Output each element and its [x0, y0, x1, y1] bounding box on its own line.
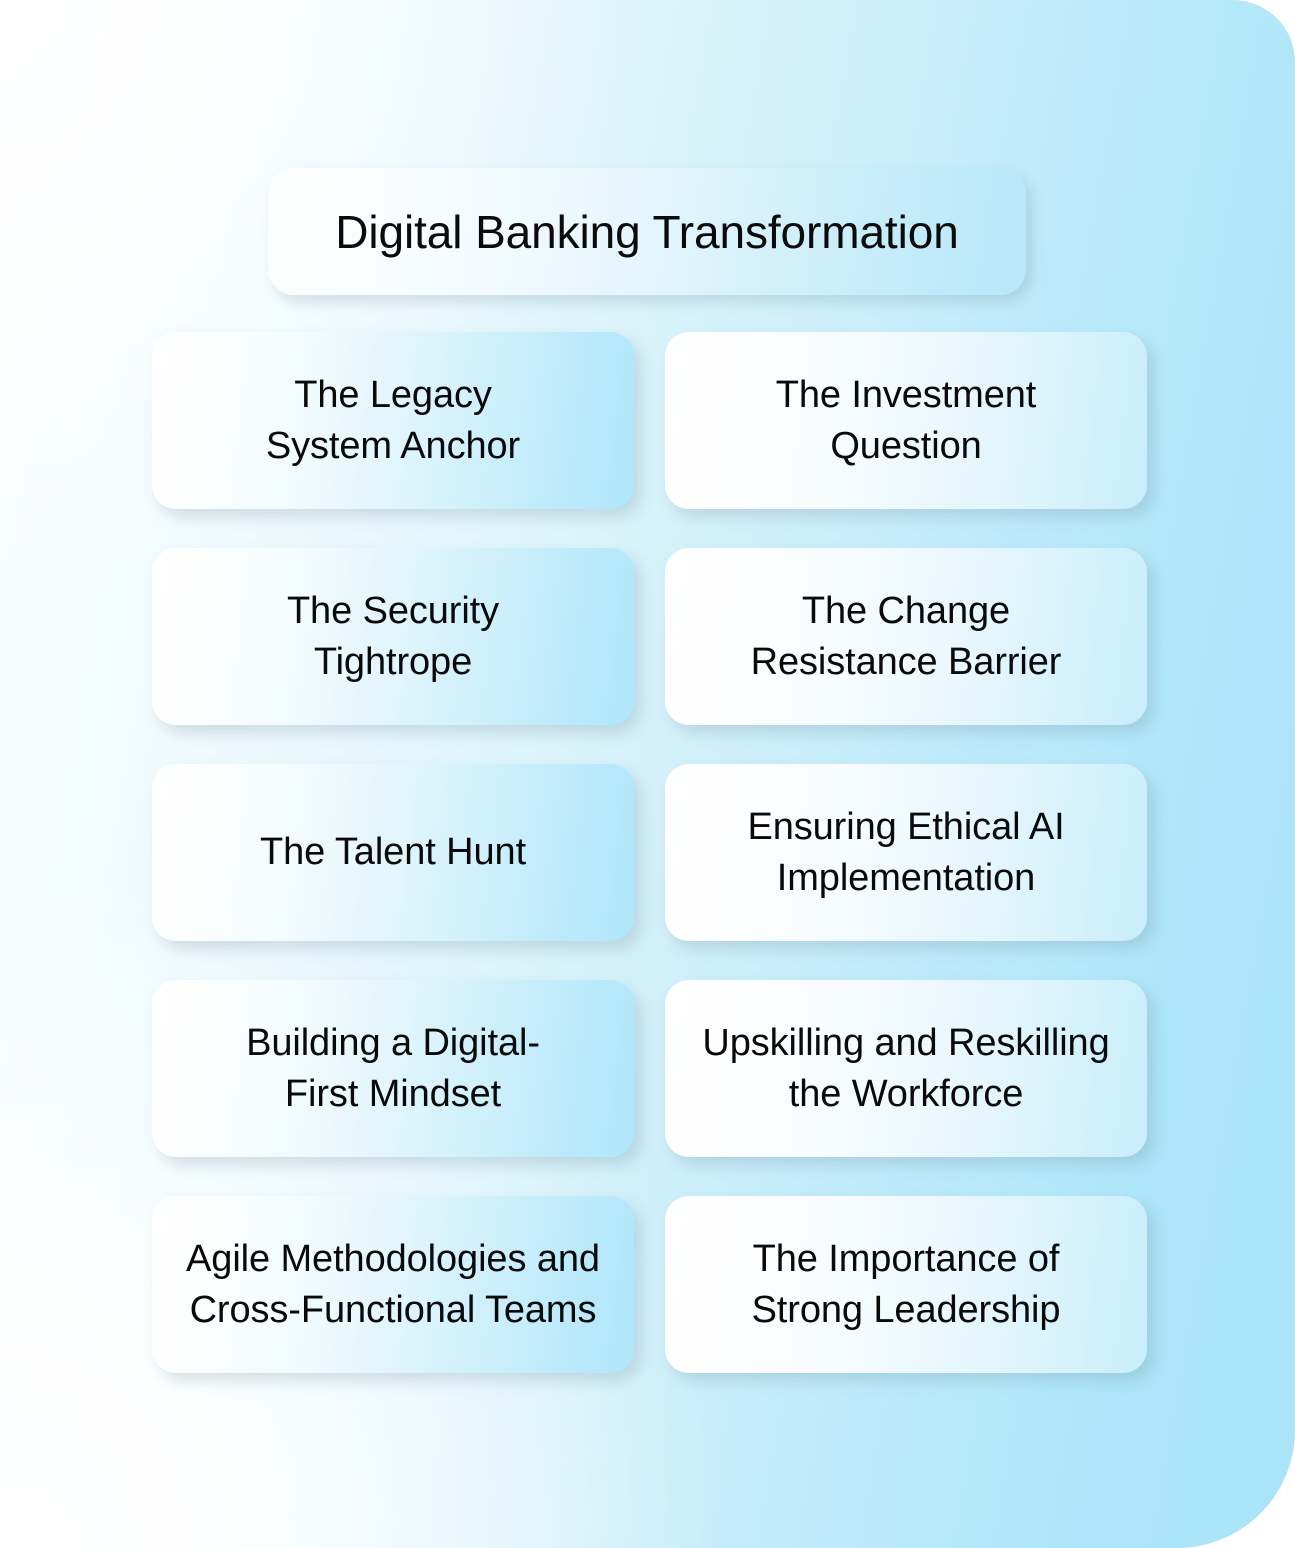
page-title: Digital Banking Transformation [315, 205, 978, 259]
topic-card-investment-question[interactable]: The Investment Question [665, 332, 1147, 509]
title-card: Digital Banking Transformation [268, 168, 1026, 295]
topic-card-label: Building a Digital- First Mindset [246, 1018, 540, 1120]
topic-card-change-resistance-barrier[interactable]: The Change Resistance Barrier [665, 548, 1147, 725]
topic-card-label: Upskilling and Reskilling the Workforce [702, 1018, 1109, 1120]
infographic-canvas: Digital Banking Transformation The Legac… [0, 0, 1295, 1548]
topic-card-label: The Talent Hunt [260, 827, 526, 878]
topic-card-talent-hunt[interactable]: The Talent Hunt [152, 764, 634, 941]
topic-card-strong-leadership[interactable]: The Importance of Strong Leadership [665, 1196, 1147, 1373]
topic-card-grid: The Legacy System Anchor The Investment … [152, 332, 1147, 1373]
topic-card-label: The Importance of Strong Leadership [752, 1234, 1061, 1336]
topic-card-label: The Legacy System Anchor [266, 370, 520, 472]
topic-card-digital-first-mindset[interactable]: Building a Digital- First Mindset [152, 980, 634, 1157]
topic-card-upskilling-reskilling-workforce[interactable]: Upskilling and Reskilling the Workforce [665, 980, 1147, 1157]
topic-card-label: The Investment Question [776, 370, 1037, 472]
topic-card-security-tightrope[interactable]: The Security Tightrope [152, 548, 634, 725]
topic-card-ethical-ai-implementation[interactable]: Ensuring Ethical AI Implementation [665, 764, 1147, 941]
page-panel: Digital Banking Transformation The Legac… [0, 0, 1295, 1548]
topic-card-label: The Change Resistance Barrier [751, 586, 1062, 688]
topic-card-agile-cross-functional-teams[interactable]: Agile Methodologies and Cross-Functional… [152, 1196, 634, 1373]
topic-card-label: Ensuring Ethical AI Implementation [747, 802, 1064, 904]
topic-card-legacy-system-anchor[interactable]: The Legacy System Anchor [152, 332, 634, 509]
topic-card-label: The Security Tightrope [287, 586, 499, 688]
topic-card-label: Agile Methodologies and Cross-Functional… [186, 1234, 600, 1336]
